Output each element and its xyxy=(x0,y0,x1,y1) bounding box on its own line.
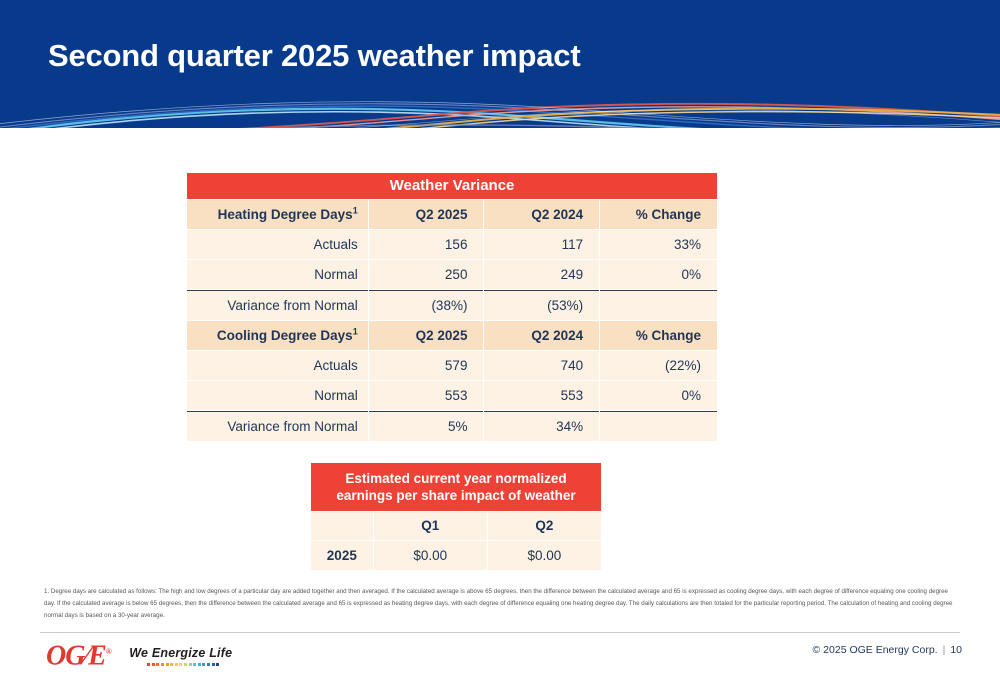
logo-dot xyxy=(147,663,150,666)
logo-dot xyxy=(212,663,215,666)
decorative-wave-graphic xyxy=(0,96,1000,128)
footnote-marker: 1 xyxy=(353,206,358,216)
weather-table-banner: Weather Variance xyxy=(187,173,717,199)
eps-col-q1: Q1 xyxy=(374,512,487,540)
oge-logo-wordmark: OG∕E xyxy=(46,640,106,671)
oge-tagline-block: We Energize Life xyxy=(129,646,232,666)
heating-col-q2-2024: Q2 2024 xyxy=(484,200,599,229)
eps-row-year: 2025 xyxy=(311,541,373,570)
logo-dot xyxy=(161,663,164,666)
table-row: 2025 $0.00 $0.00 xyxy=(311,541,601,570)
row-value xyxy=(600,411,717,441)
logo-dot xyxy=(166,663,169,666)
footnote-marker: 1 xyxy=(353,327,358,337)
eps-row-value-q1: $0.00 xyxy=(374,541,487,570)
logo-dot xyxy=(179,663,182,666)
logo-dot xyxy=(193,663,196,666)
registered-trademark-icon: ® xyxy=(106,647,111,656)
row-value: 33% xyxy=(600,230,717,259)
copyright-separator: | xyxy=(938,644,951,656)
logo-dot xyxy=(198,663,201,666)
cooling-col-pct-change: % Change xyxy=(600,321,717,350)
row-value: (22%) xyxy=(600,351,717,380)
row-value: 0% xyxy=(600,381,717,410)
oge-tagline: We Energize Life xyxy=(129,646,232,660)
cooling-degree-days-label-text: Cooling Degree Days xyxy=(217,328,353,343)
eps-table-banner: Estimated current year normalized earnin… xyxy=(311,463,601,511)
eps-banner-line-2: earnings per share impact of weather xyxy=(336,488,575,503)
page-number: 10 xyxy=(950,644,962,656)
row-value: (53%) xyxy=(484,290,599,320)
row-value: 553 xyxy=(369,381,484,410)
logo-dot xyxy=(152,663,155,666)
row-label: Actuals xyxy=(187,351,368,380)
row-value: 579 xyxy=(369,351,484,380)
footnote-text: 1. Degree days are calculated as follows… xyxy=(44,586,960,621)
heating-degree-days-header-row: Heating Degree Days1 Q2 2025 Q2 2024 % C… xyxy=(187,200,717,229)
row-label: Variance from Normal xyxy=(187,411,368,441)
eps-corner-cell xyxy=(311,512,373,540)
footer-copyright: © 2025 OGE Energy Corp.|10 xyxy=(813,644,962,656)
row-value: 156 xyxy=(369,230,484,259)
oge-logo-mark: OG∕E® xyxy=(46,637,111,671)
eps-col-q2: Q2 xyxy=(488,512,601,540)
table-row: Variance from Normal 5% 34% xyxy=(187,411,717,441)
table-row: Variance from Normal (38%) (53%) xyxy=(187,290,717,320)
logo-dot xyxy=(156,663,159,666)
eps-banner-row: Estimated current year normalized earnin… xyxy=(311,463,601,511)
row-label: Normal xyxy=(187,260,368,289)
copyright-text: © 2025 OGE Energy Corp. xyxy=(813,644,938,656)
row-value: 250 xyxy=(369,260,484,289)
eps-weather-impact-table: Estimated current year normalized earnin… xyxy=(310,462,602,571)
eps-header-row: Q1 Q2 xyxy=(311,512,601,540)
slide-canvas: Second quarter 2025 weather impact xyxy=(0,0,1000,685)
row-value: 5% xyxy=(369,411,484,441)
cooling-col-q2-2024: Q2 2024 xyxy=(484,321,599,350)
row-label: Normal xyxy=(187,381,368,410)
page-title: Second quarter 2025 weather impact xyxy=(48,38,580,74)
weather-table-banner-row: Weather Variance xyxy=(187,173,717,199)
logo-dot xyxy=(207,663,210,666)
heating-col-q2-2025: Q2 2025 xyxy=(369,200,484,229)
cooling-degree-days-header-row: Cooling Degree Days1 Q2 2025 Q2 2024 % C… xyxy=(187,321,717,350)
logo-dot xyxy=(170,663,173,666)
row-value xyxy=(600,290,717,320)
heating-col-pct-change: % Change xyxy=(600,200,717,229)
heating-degree-days-label: Heating Degree Days1 xyxy=(187,200,368,229)
weather-variance-table: Weather Variance Heating Degree Days1 Q2… xyxy=(186,172,718,442)
logo-dot xyxy=(175,663,178,666)
logo-dot xyxy=(202,663,205,666)
table-row: Actuals 156 117 33% xyxy=(187,230,717,259)
eps-banner-line-1: Estimated current year normalized xyxy=(345,471,566,486)
eps-row-value-q2: $0.00 xyxy=(488,541,601,570)
row-value: 34% xyxy=(484,411,599,441)
table-row: Normal 250 249 0% xyxy=(187,260,717,289)
footer-divider xyxy=(40,632,960,633)
heating-degree-days-label-text: Heating Degree Days xyxy=(218,207,353,222)
cooling-degree-days-label: Cooling Degree Days1 xyxy=(187,321,368,350)
table-row: Actuals 579 740 (22%) xyxy=(187,351,717,380)
oge-logo: OG∕E® We Energize Life xyxy=(46,637,232,671)
row-value: 117 xyxy=(484,230,599,259)
row-value: 0% xyxy=(600,260,717,289)
row-value: 740 xyxy=(484,351,599,380)
table-row: Normal 553 553 0% xyxy=(187,381,717,410)
row-value: 249 xyxy=(484,260,599,289)
row-value: (38%) xyxy=(369,290,484,320)
row-label: Actuals xyxy=(187,230,368,259)
row-value: 553 xyxy=(484,381,599,410)
logo-dot xyxy=(189,663,192,666)
logo-dot xyxy=(216,663,219,666)
oge-logo-dots xyxy=(147,662,232,666)
cooling-col-q2-2025: Q2 2025 xyxy=(369,321,484,350)
slide-header: Second quarter 2025 weather impact xyxy=(0,0,1000,128)
row-label: Variance from Normal xyxy=(187,290,368,320)
logo-dot xyxy=(184,663,187,666)
